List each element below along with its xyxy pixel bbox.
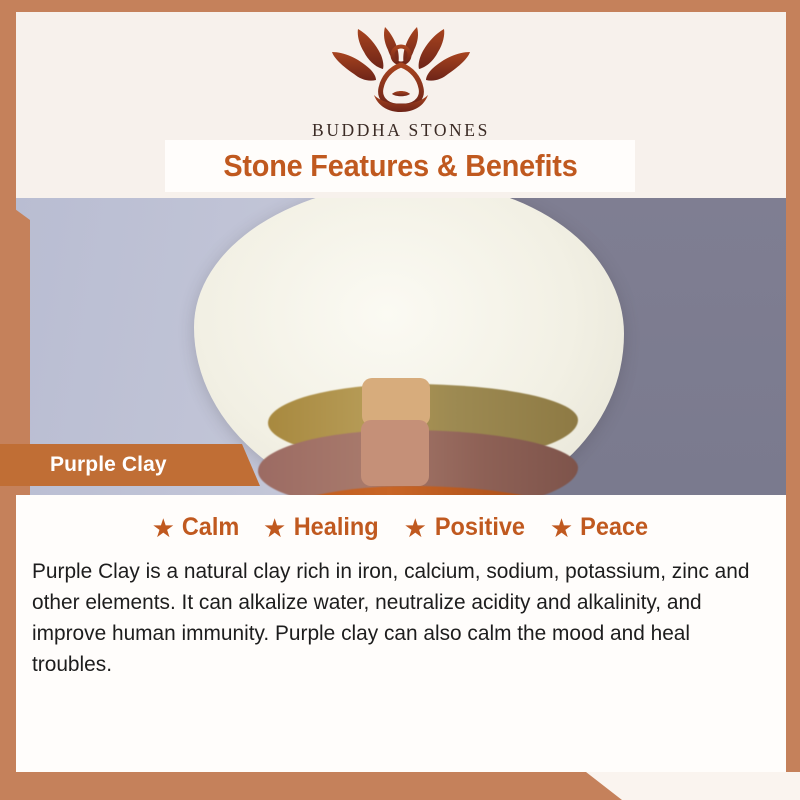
feature-item-positive: ★ Positive <box>404 513 528 542</box>
star-icon: ★ <box>404 515 427 541</box>
page-title-banner: Stone Features & Benefits <box>165 140 635 192</box>
powder-swatch-top <box>362 378 430 426</box>
lotus-meditation-icon <box>326 22 476 114</box>
stone-description: Purple Clay is a natural clay rich in ir… <box>32 556 752 680</box>
brand-logo-block: BUDDHA STONES <box>16 22 786 141</box>
frame-border-right <box>786 0 800 800</box>
feature-label: Peace <box>580 513 648 542</box>
feature-label: Calm <box>182 513 239 542</box>
stone-name-badge: Purple Clay <box>0 444 260 486</box>
card-header: BUDDHA STONES Stone Features & Benefits <box>16 12 786 198</box>
frame-border-bottom <box>0 772 800 800</box>
feature-label: Positive <box>435 513 525 542</box>
info-card: BUDDHA STONES Stone Features & Benefits … <box>16 12 786 772</box>
brand-name: BUDDHA STONES <box>312 120 490 141</box>
frame-border-top <box>0 0 800 12</box>
star-icon: ★ <box>263 515 286 541</box>
card-content: ★ Calm ★ Healing ★ Positive ★ Peace Purp… <box>16 495 786 772</box>
star-icon: ★ <box>152 515 175 541</box>
stone-name-label: Purple Clay <box>50 453 167 477</box>
frame-bottom-bar <box>0 772 622 800</box>
feature-list: ★ Calm ★ Healing ★ Positive ★ Peace <box>16 495 786 542</box>
feature-label: Healing <box>294 513 379 542</box>
powder-swatch-mauve <box>361 420 429 486</box>
feature-item-calm: ★ Calm <box>152 513 241 542</box>
page-title: Stone Features & Benefits <box>223 148 577 184</box>
feature-item-peace: ★ Peace <box>550 513 651 542</box>
feature-item-healing: ★ Healing <box>263 513 382 542</box>
frame-border-left <box>0 0 16 800</box>
star-icon: ★ <box>550 515 573 541</box>
